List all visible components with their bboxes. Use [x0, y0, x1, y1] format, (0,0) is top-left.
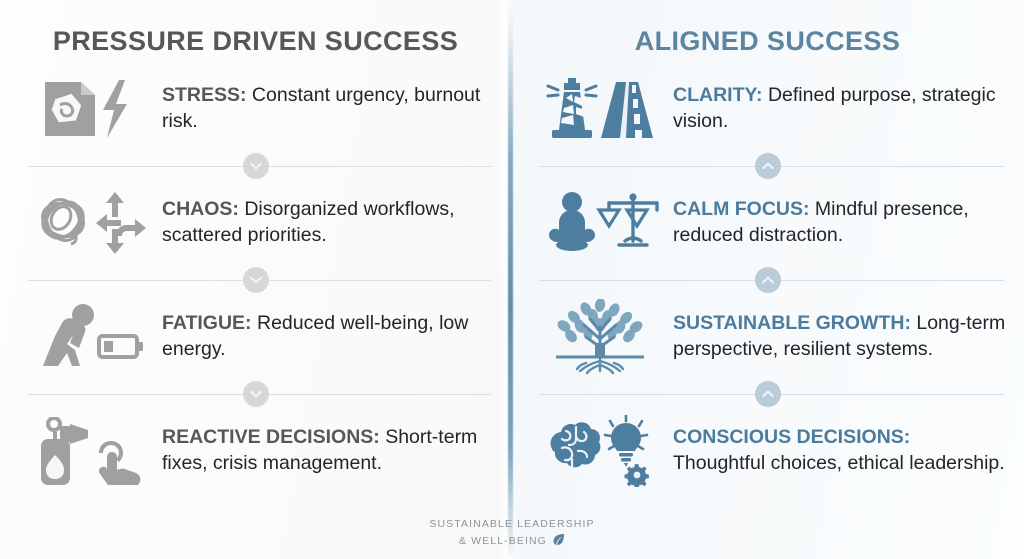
list-item-text: CLARITY: Defined purpose, strategic visi… — [673, 83, 1006, 134]
list-item-term: CLARITY: — [673, 84, 763, 106]
separator-chevron — [511, 267, 1024, 293]
chevron-down-icon — [243, 153, 269, 179]
left-panel-title: PRESSURE DRIVEN SUCCESS — [0, 0, 511, 67]
list-item-text: CALM FOCUS: Mindful presence, reduced di… — [673, 197, 1006, 248]
list-item-term: REACTIVE DECISIONS: — [162, 426, 380, 448]
list-item: REACTIVE DECISIONS: Short-term fixes, cr… — [0, 409, 511, 493]
list-item-text: SUSTAINABLE GROWTH: Long-term perspectiv… — [673, 311, 1006, 362]
list-item: STRESS: Constant urgency, burnout risk. — [0, 67, 511, 151]
list-item-text: STRESS: Constant urgency, burnout risk. — [162, 83, 489, 134]
chevron-down-icon — [243, 381, 269, 407]
list-item: FATIGUE: Reduced well-being, low energy. — [0, 295, 511, 379]
footer-line-2: & WELL-BEING — [459, 534, 547, 548]
list-item-term: SUSTAINABLE GROWTH: — [673, 312, 911, 334]
list-item-text: CHAOS: Disorganized workflows, scattered… — [162, 197, 489, 248]
leaf-icon — [552, 533, 565, 550]
right-panel-title: ALIGNED SUCCESS — [511, 0, 1024, 67]
list-item-term: FATIGUE: — [162, 312, 252, 334]
list-item-text: CONSCIOUS DECISIONS: Thoughtful choices,… — [673, 425, 1006, 476]
list-item-text: REACTIVE DECISIONS: Short-term fixes, cr… — [162, 425, 489, 476]
separator-chevron — [0, 381, 511, 407]
list-item-term: CHAOS: — [162, 198, 239, 220]
chevron-up-icon — [755, 267, 781, 293]
footer-line-2-wrap: & WELL-BEING — [459, 533, 565, 550]
list-item-text: FATIGUE: Reduced well-being, low energy. — [162, 311, 489, 362]
footer-line-1: SUSTAINABLE LEADERSHIP — [0, 517, 1024, 531]
right-panel-items: CLARITY: Defined purpose, strategic visi… — [511, 67, 1024, 493]
list-item-term: STRESS: — [162, 84, 247, 106]
exhausted-person-low-battery-icon — [30, 301, 148, 373]
fire-extinguisher-hand-icon — [30, 415, 148, 487]
chevron-up-icon — [755, 153, 781, 179]
separator-chevron — [0, 153, 511, 179]
right-panel-aligned-success: ALIGNED SUCCESS — [511, 0, 1024, 559]
left-panel-pressure-driven-success: PRESSURE DRIVEN SUCCESS STRESS: Constant… — [0, 0, 511, 559]
separator-chevron — [511, 381, 1024, 407]
meditating-person-scales-icon — [541, 187, 659, 259]
list-item-term: CALM FOCUS: — [673, 198, 809, 220]
chevron-up-icon — [755, 381, 781, 407]
list-item: CONSCIOUS DECISIONS: Thoughtful choices,… — [511, 409, 1024, 493]
list-item: CALM FOCUS: Mindful presence, reduced di… — [511, 181, 1024, 265]
footer-branding: SUSTAINABLE LEADERSHIP & WELL-BEING — [0, 517, 1024, 550]
separator-chevron — [511, 153, 1024, 179]
tree-with-roots-icon — [541, 301, 659, 373]
list-item: SUSTAINABLE GROWTH: Long-term perspectiv… — [511, 295, 1024, 379]
tangled-scribble-arrows-icon — [30, 187, 148, 259]
list-item-term: CONSCIOUS DECISIONS: — [673, 426, 910, 448]
crumpled-paper-lightning-icon — [30, 73, 148, 145]
separator-chevron — [0, 267, 511, 293]
chevron-down-icon — [243, 267, 269, 293]
brain-lightbulb-gear-icon — [541, 415, 659, 487]
list-item: CLARITY: Defined purpose, strategic visi… — [511, 67, 1024, 151]
list-item: CHAOS: Disorganized workflows, scattered… — [0, 181, 511, 265]
lighthouse-road-icon — [541, 73, 659, 145]
left-panel-items: STRESS: Constant urgency, burnout risk. — [0, 67, 511, 493]
infographic-root: PRESSURE DRIVEN SUCCESS STRESS: Constant… — [0, 0, 1024, 559]
list-item-description: Thoughtful choices, ethical leadership. — [673, 452, 1005, 474]
